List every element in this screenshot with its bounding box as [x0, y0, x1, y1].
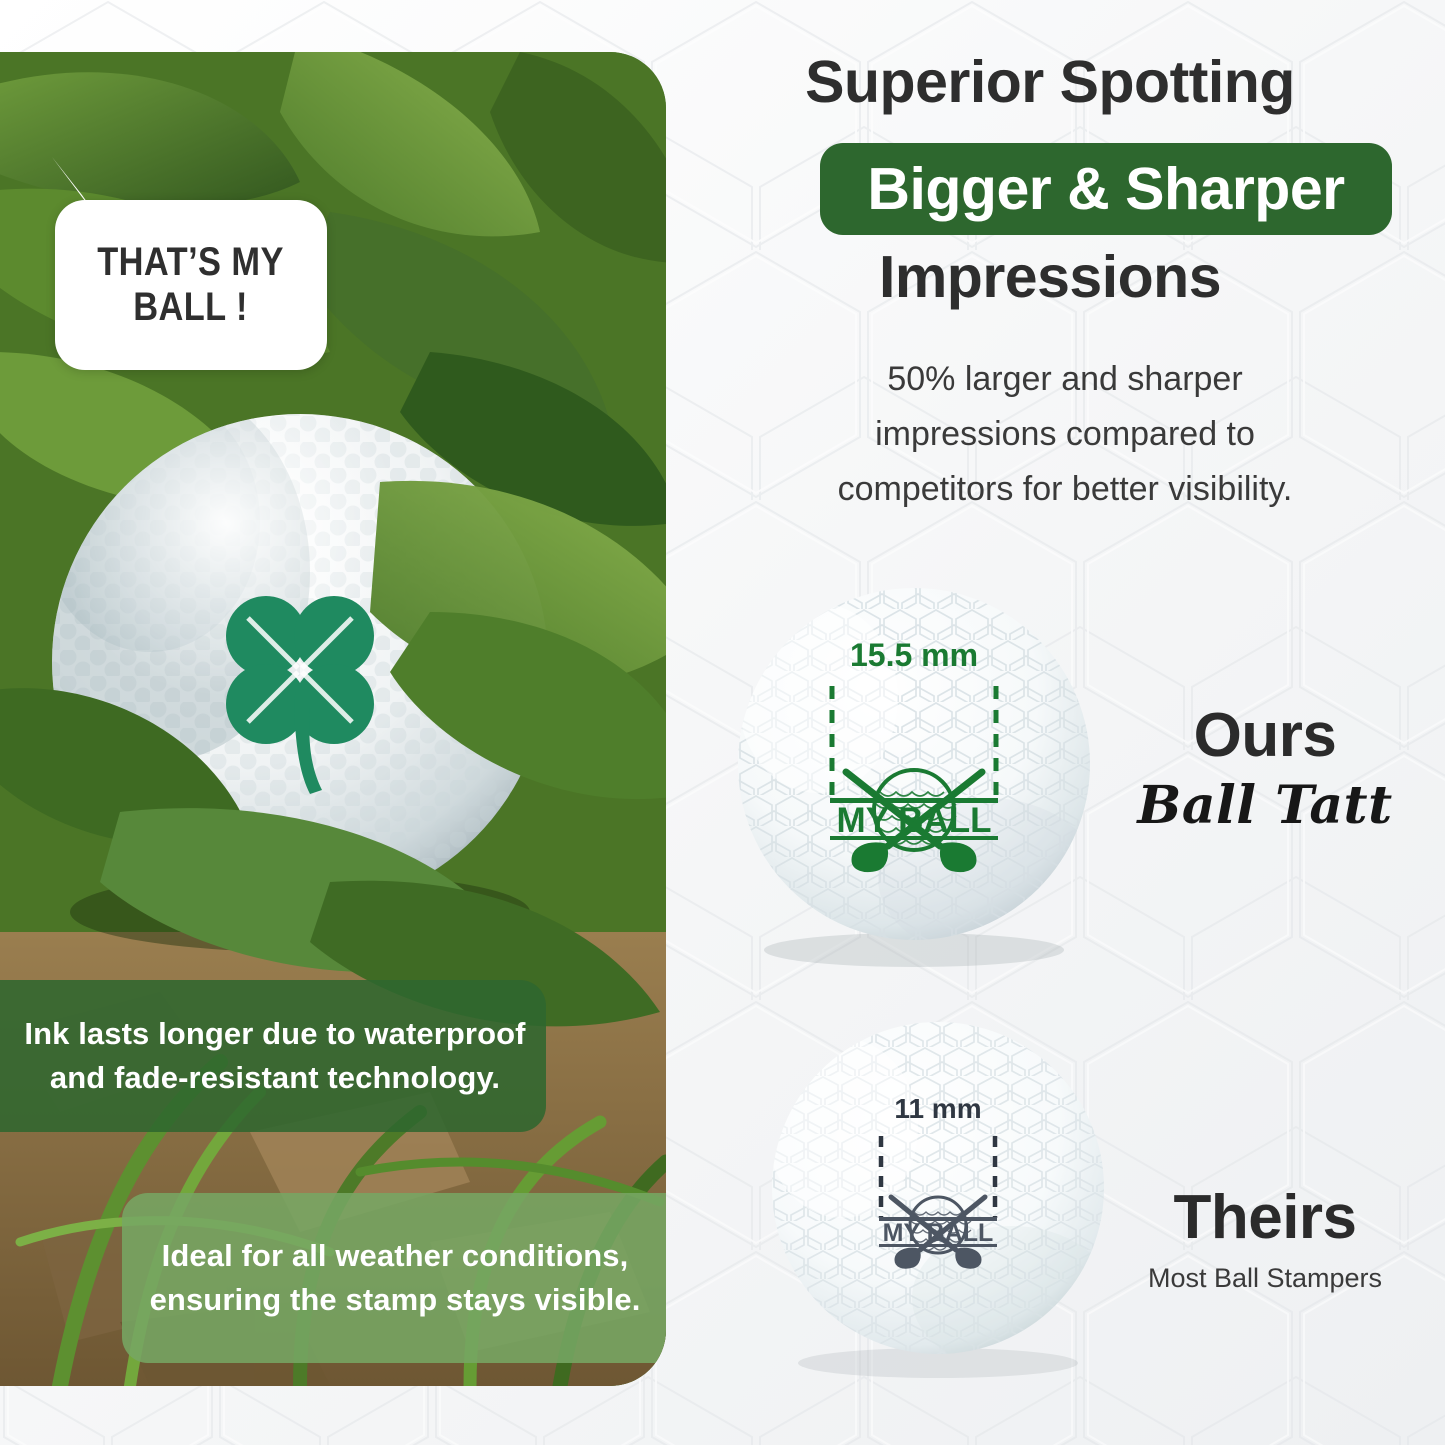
speech-bubble-text: THAT’S MY BALL ! [98, 240, 285, 330]
feature-caption-ink-durability: Ink lasts longer due to waterproof and f… [0, 980, 546, 1132]
feature-caption-weather: Ideal for all weather conditions, ensuri… [122, 1193, 666, 1363]
golf-ball-ours: 15.5 mm [738, 578, 1102, 970]
comparison-panel: Superior Spotting Bigger & Sharper Impre… [700, 0, 1445, 1445]
label-theirs: Theirs Most Ball Stampers [1100, 1182, 1430, 1294]
label-ours-title: Ours [1100, 700, 1430, 771]
svg-text:MY BALL: MY BALL [837, 801, 992, 840]
label-theirs-title: Theirs [1100, 1182, 1430, 1253]
feature-caption-text: Ink lasts longer due to waterproof and f… [24, 1012, 525, 1100]
golf-ball-theirs: 11 mm [772, 1018, 1112, 1378]
feature-caption-text: Ideal for all weather conditions, ensuri… [150, 1234, 641, 1322]
label-theirs-subtitle: Most Ball Stampers [1100, 1263, 1430, 1294]
headline-line-2: Impressions [700, 243, 1400, 311]
subcopy-text: 50% larger and sharper impressions compa… [720, 352, 1410, 517]
headline-line-1: Superior Spotting [700, 48, 1400, 116]
speech-bubble: THAT’S MY BALL ! [55, 200, 327, 370]
product-photo-panel: THAT’S MY BALL ! Ink lasts longer due to… [0, 52, 666, 1386]
infographic-stage: THAT’S MY BALL ! Ink lasts longer due to… [0, 0, 1445, 1445]
svg-text:MY BALL: MY BALL [883, 1219, 994, 1247]
svg-text:11 mm: 11 mm [894, 1093, 981, 1124]
headline-badge: Bigger & Sharper [820, 143, 1392, 235]
label-ours-subtitle: Ball Tatt [1100, 775, 1430, 836]
headline-badge-text: Bigger & Sharper [867, 155, 1344, 223]
label-ours: Ours Ball Tatt [1100, 700, 1430, 836]
svg-text:15.5 mm: 15.5 mm [850, 637, 978, 673]
